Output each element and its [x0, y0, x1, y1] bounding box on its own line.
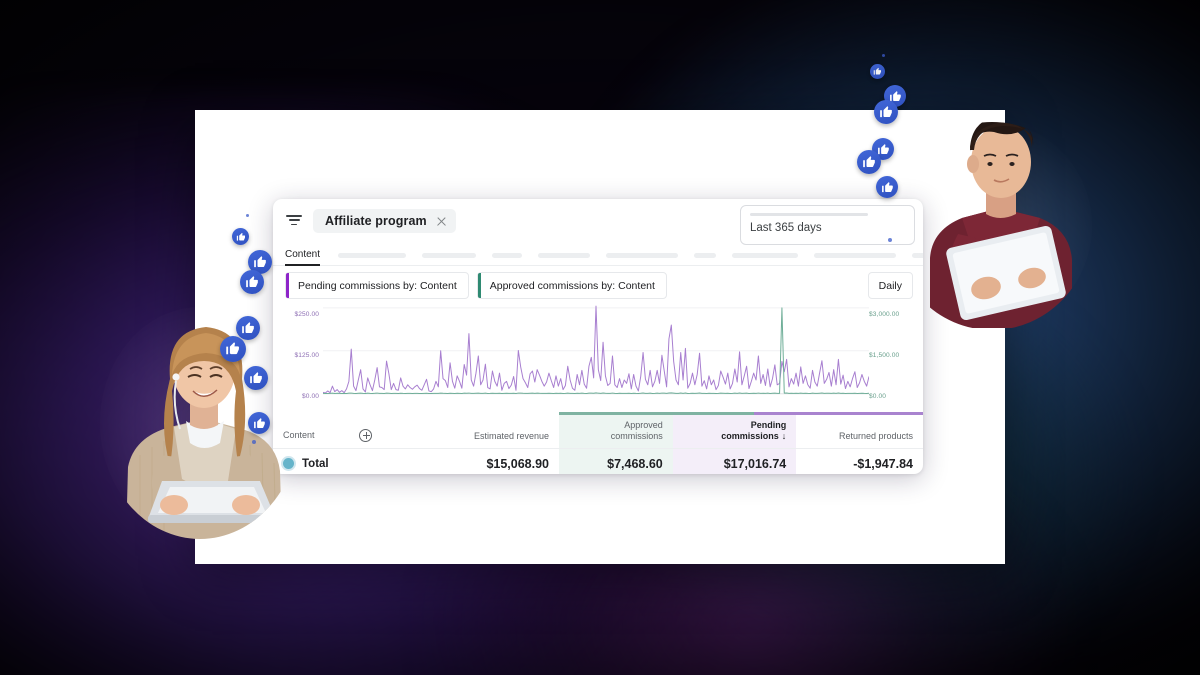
- col-header-approved-line1: Approved: [624, 420, 663, 430]
- col-header-returned-products[interactable]: Returned products: [796, 415, 923, 448]
- col-header-pending-line2: commissions: [721, 431, 779, 441]
- tab-placeholder-group: [338, 253, 923, 266]
- thumbs-up-icon: [236, 316, 260, 340]
- table-header-row: Content Estimated revenue Approved commi…: [273, 415, 923, 448]
- range-bar-approved: [559, 412, 754, 415]
- thumbs-up-icon: [248, 412, 270, 434]
- metric-card-approved-label: Approved commissions by: Content: [490, 280, 655, 292]
- row-label-total: Total: [302, 458, 329, 470]
- tab-placeholder-3: [538, 253, 590, 258]
- y-axis-right-tick-0: $0.00: [869, 393, 915, 400]
- cell-estimated-revenue: $15,068.90: [423, 448, 560, 474]
- metric-accent-bar-pending: [286, 273, 289, 298]
- metric-card-pending[interactable]: Pending commissions by: Content: [285, 272, 469, 299]
- thumbs-up-icon: [232, 228, 249, 245]
- tab-placeholder-2: [492, 253, 522, 258]
- dashboard-header: Affiliate program Last 365 days: [273, 199, 923, 243]
- thumbs-up-icon: [870, 64, 885, 79]
- chart-series-pending: [323, 306, 869, 393]
- metric-card-pending-label: Pending commissions by: Content: [298, 280, 457, 292]
- thumbs-up-icon: [244, 366, 268, 390]
- range-bar-pending: [754, 412, 923, 415]
- person-right-tablet: [900, 88, 1100, 328]
- tab-placeholder-1: [422, 253, 476, 258]
- table-range-bar-row: [273, 412, 923, 415]
- col-header-approved-commissions[interactable]: Approved commissions: [559, 415, 673, 448]
- filter-funnel-icon[interactable]: [285, 212, 303, 230]
- tab-placeholder-5: [694, 253, 716, 258]
- cell-approved-commissions: $7,468.60: [559, 448, 673, 474]
- close-icon[interactable]: [436, 216, 447, 227]
- thumbs-up-trail-dot: [246, 214, 249, 217]
- commissions-table: Content Estimated revenue Approved commi…: [273, 415, 923, 474]
- tab-placeholder-7: [814, 253, 896, 258]
- granularity-value: Daily: [879, 280, 902, 292]
- date-range-label: Last 365 days: [750, 222, 905, 234]
- sort-descending-icon[interactable]: ↓: [782, 431, 787, 441]
- dashboard-tab-bar: Content: [273, 243, 923, 266]
- range-bar-spacer: [273, 412, 559, 415]
- plus-circle-icon[interactable]: [359, 429, 372, 442]
- analytics-dashboard-card: Affiliate program Last 365 days Content …: [273, 199, 923, 474]
- y-axis-right-tick-1: $1,500.00: [869, 352, 915, 359]
- filter-chip-label: Affiliate program: [325, 214, 427, 228]
- tab-placeholder-6: [732, 253, 798, 258]
- tab-content[interactable]: Content: [285, 249, 320, 266]
- chart-plot-area: [323, 304, 869, 402]
- col-header-approved-line2: commissions: [611, 431, 663, 441]
- cell-pending-commissions: $17,016.74: [673, 448, 797, 474]
- thumbs-up-icon: [240, 270, 264, 294]
- date-skeleton-bar: [750, 213, 868, 216]
- tab-placeholder-0: [338, 253, 406, 258]
- thumbs-up-trail-dot: [252, 440, 256, 444]
- table-row[interactable]: Total $15,068.90 $7,468.60 $17,016.74 -$…: [273, 448, 923, 474]
- thumbs-up-trail-dot: [882, 54, 885, 57]
- commissions-line-chart: $250.00 $125.00 $0.00 $3,000.00 $1,500.0…: [277, 304, 919, 408]
- cell-returned-products: -$1,947.84: [796, 448, 923, 474]
- col-header-pending-line1: Pending: [751, 420, 787, 430]
- thumbs-up-trail-dot: [888, 238, 892, 242]
- thumbs-up-icon: [874, 100, 898, 124]
- thumbs-up-icon: [220, 336, 246, 362]
- metric-accent-bar-approved: [478, 273, 481, 298]
- metric-chip-row: Pending commissions by: Content Approved…: [273, 266, 923, 302]
- thumbs-up-icon: [876, 176, 898, 198]
- col-header-pending-commissions[interactable]: Pending commissions↓: [673, 415, 797, 448]
- col-header-estimated-revenue[interactable]: Estimated revenue: [423, 415, 560, 448]
- thumbs-up-icon: [857, 150, 881, 174]
- person-left-laptop: [100, 305, 305, 540]
- filter-chip-affiliate-program[interactable]: Affiliate program: [313, 209, 456, 233]
- metric-card-approved[interactable]: Approved commissions by: Content: [477, 272, 667, 299]
- tab-placeholder-4: [606, 253, 678, 258]
